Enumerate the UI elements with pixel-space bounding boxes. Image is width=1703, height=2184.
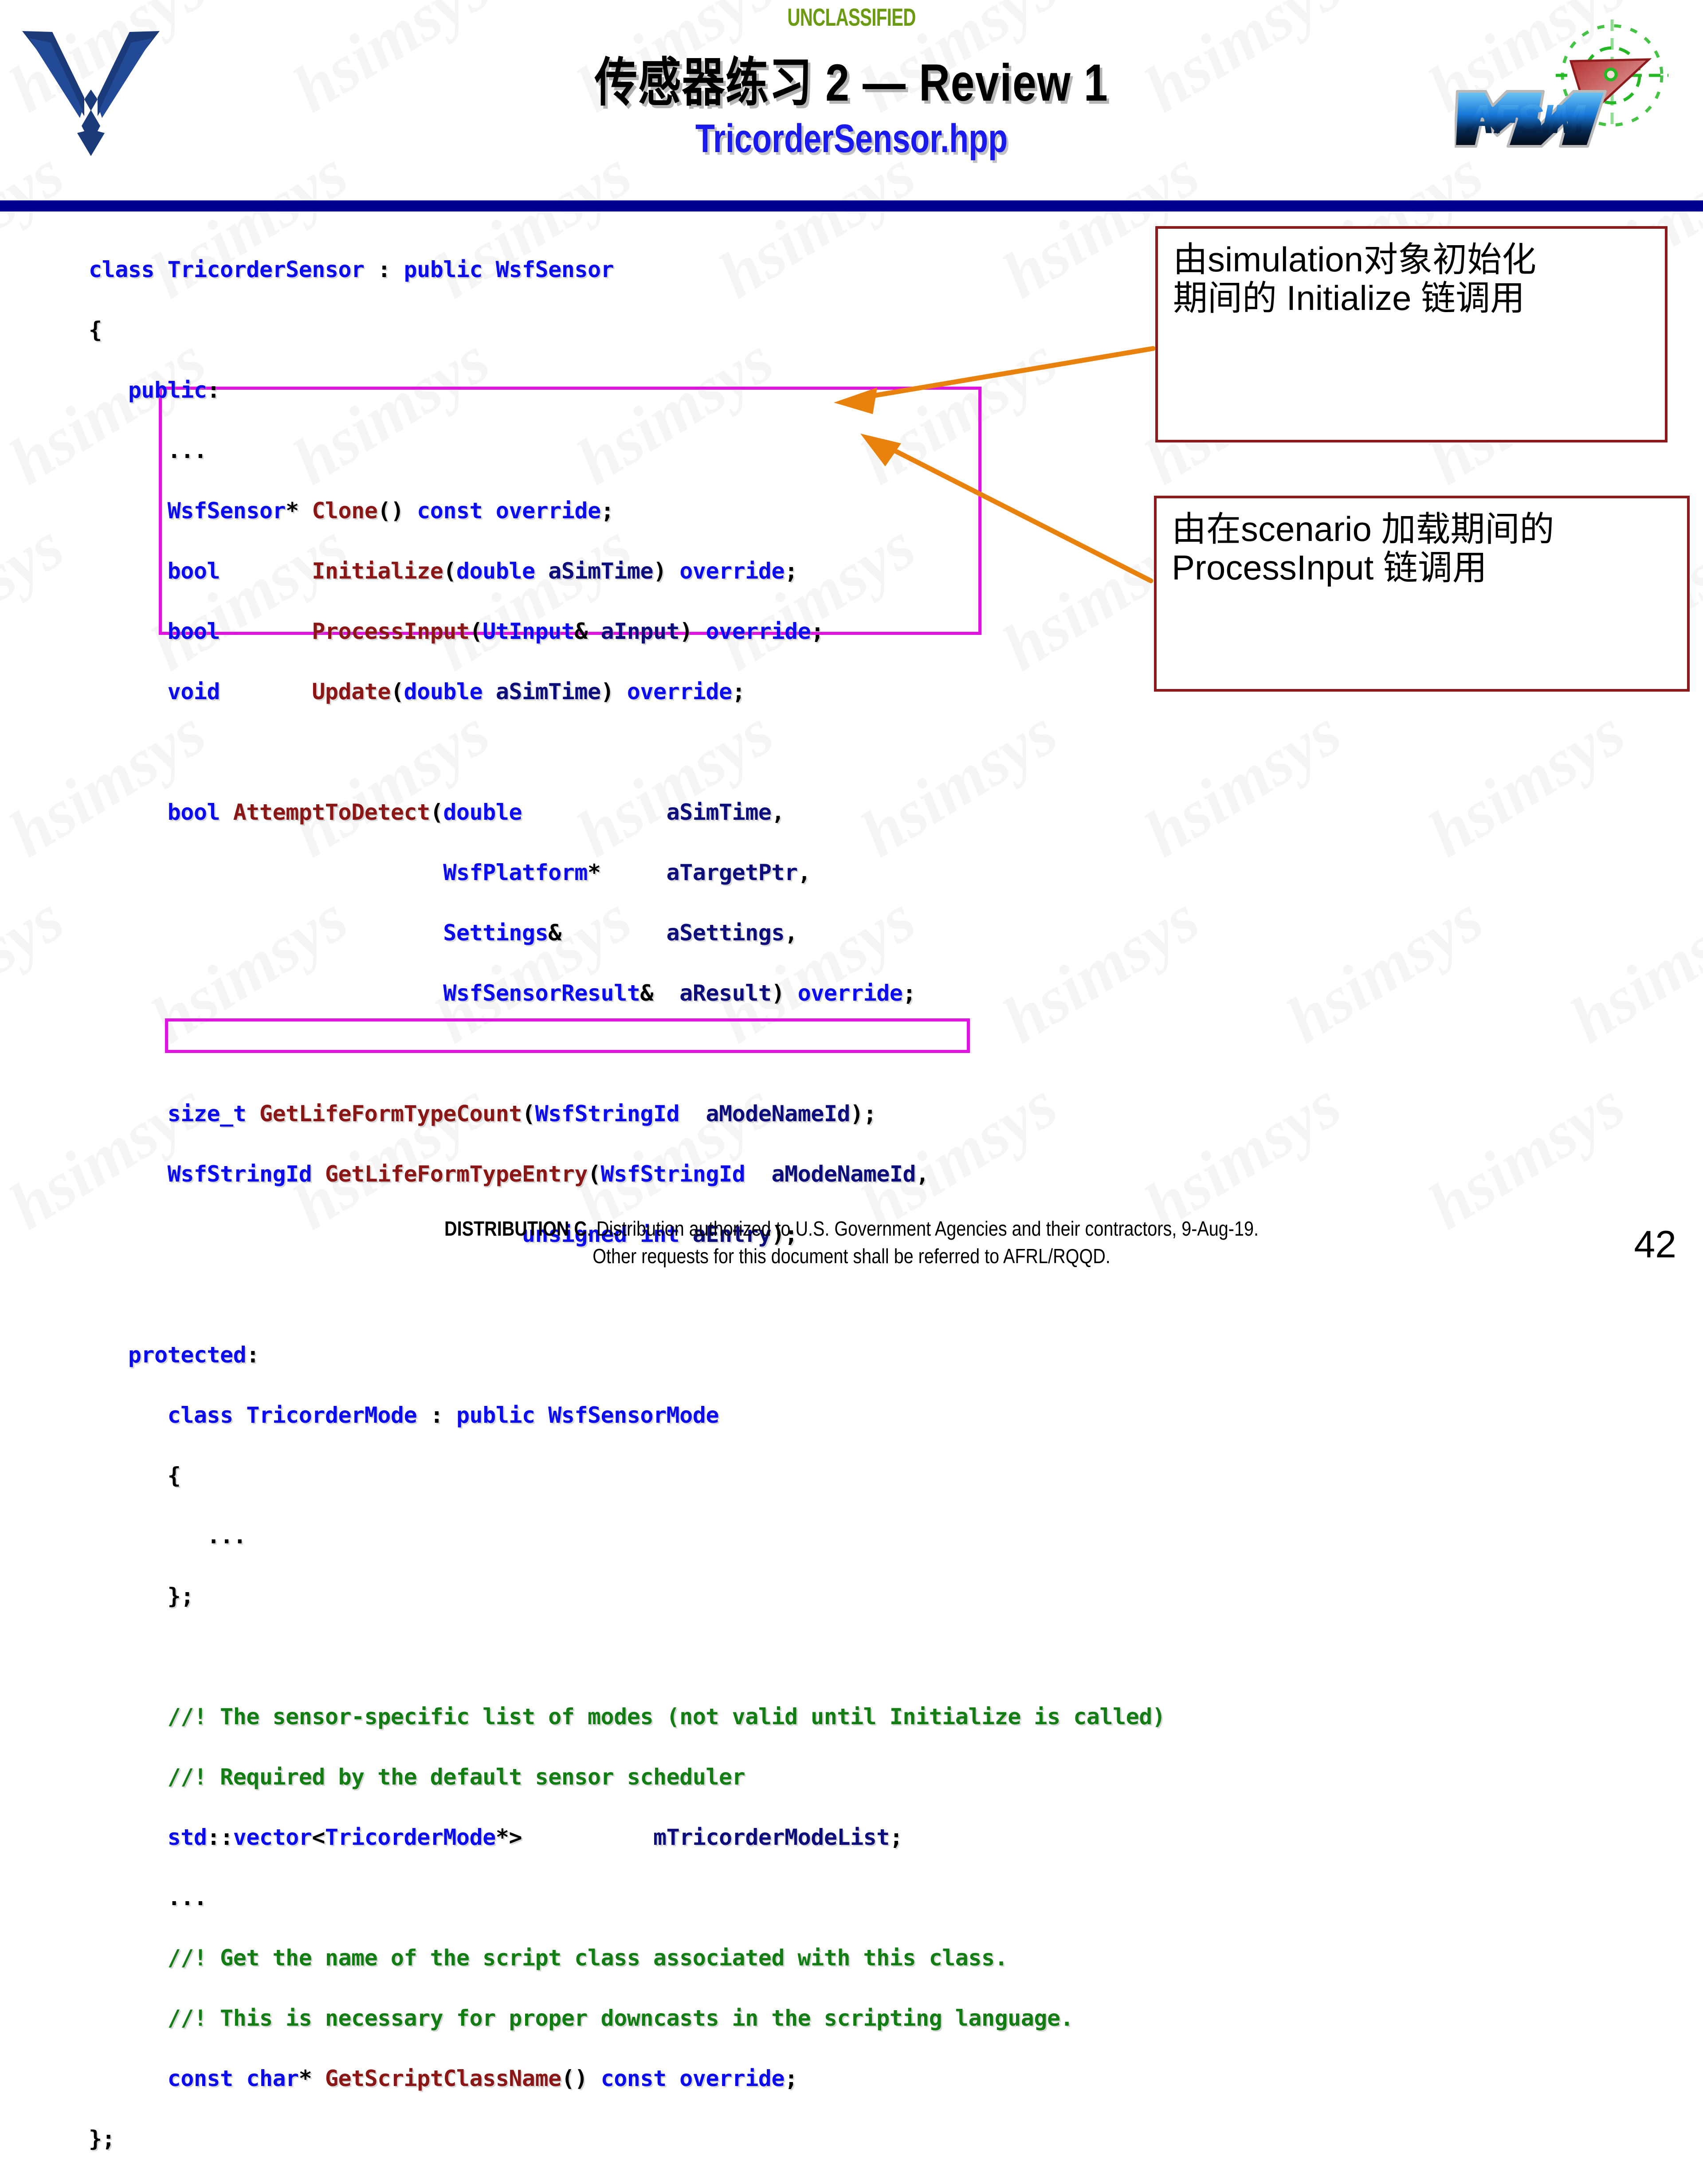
- code-line: void Update(double aSimTime) override;: [89, 677, 1165, 707]
- code-line: {: [89, 315, 1165, 345]
- distribution-line-1: DISTRIBUTION C. Distribution authorized …: [119, 1215, 1584, 1242]
- distribution-label: DISTRIBUTION C: [444, 1217, 587, 1240]
- code-line: bool Initialize(double aSimTime) overrid…: [89, 556, 1165, 586]
- page-subtitle: TricorderSensor.hpp: [170, 116, 1533, 162]
- distribution-line-1-rest: . Distribution authorized to U.S. Govern…: [587, 1217, 1259, 1240]
- page-number: 42: [1634, 1223, 1676, 1267]
- watermark-text: hsimsys: [1699, 694, 1703, 872]
- us-air-force-logo: [18, 23, 164, 156]
- distribution-statement: DISTRIBUTION C. Distribution authorized …: [119, 1215, 1584, 1270]
- code-line: ...: [89, 435, 1165, 466]
- code-line: protected:: [89, 1340, 1165, 1370]
- code-line: //! This is necessary for proper downcas…: [89, 2003, 1165, 2033]
- code-line: ...: [89, 1521, 1165, 1551]
- code-line: {: [89, 1460, 1165, 1491]
- code-line: WsfStringId GetLifeFormTypeEntry(WsfStri…: [89, 1159, 1165, 1189]
- code-line: };: [89, 1581, 1165, 1611]
- code-line: //! Required by the default sensor sched…: [89, 1762, 1165, 1792]
- watermark-text: hsimsys: [0, 880, 76, 1058]
- callout-initialize: 由simulation对象初始化 期间的 Initialize 链调用: [1155, 226, 1668, 442]
- callout-processinput: 由在scenario 加载期间的 ProcessInput 链调用: [1154, 496, 1690, 692]
- code-line: [89, 1280, 1165, 1310]
- watermark-text: hsimsys: [1699, 1066, 1703, 1245]
- callout-initialize-line1: 由simulation对象初始化: [1173, 240, 1650, 279]
- watermark-text: hsimsys: [1699, 321, 1703, 500]
- code-line: };: [89, 2124, 1165, 2154]
- afsim-logo: AFSIM: [1455, 17, 1694, 168]
- code-line: std::vector<TricorderMode*> mTricorderMo…: [89, 1822, 1165, 1852]
- code-line: const char* GetScriptClassName() const o…: [89, 2063, 1165, 2094]
- code-line: ...: [89, 1883, 1165, 1913]
- code-line: //! The sensor-specific list of modes (n…: [89, 1702, 1165, 1732]
- code-line: bool AttemptToDetect(double aSimTime,: [89, 797, 1165, 827]
- code-line: [89, 1038, 1165, 1069]
- header-divider-rule: [0, 200, 1703, 211]
- code-line: [89, 737, 1165, 767]
- code-line: WsfSensor* Clone() const override;: [89, 496, 1165, 526]
- code-line: size_t GetLifeFormTypeCount(WsfStringId …: [89, 1099, 1165, 1129]
- svg-text:AFSIM: AFSIM: [1464, 97, 1586, 142]
- code-line: [89, 1641, 1165, 1671]
- watermark-text: hsimsys: [0, 508, 76, 686]
- distribution-line-2: Other requests for this document shall b…: [119, 1242, 1584, 1270]
- code-line: //! Get the name of the script class ass…: [89, 1943, 1165, 1973]
- code-line: WsfSensorResult& aResult) override;: [89, 978, 1165, 1008]
- code-line: WsfPlatform* aTargetPtr,: [89, 857, 1165, 888]
- watermark-text: hsimsys: [1557, 880, 1703, 1058]
- code-line: class TricorderSensor : public WsfSensor: [89, 254, 1165, 285]
- code-line: bool ProcessInput(UtInput& aInput) overr…: [89, 616, 1165, 646]
- callout-initialize-line2: 期间的 Initialize 链调用: [1173, 279, 1650, 317]
- code-line: Settings& aSettings,: [89, 918, 1165, 948]
- code-line: class TricorderMode : public WsfSensorMo…: [89, 1400, 1165, 1430]
- slide-header: UNCLASSIFIED 传感器练习 2 — Review 1 Tricorde…: [0, 0, 1703, 202]
- watermark-text: hsimsys: [0, 1252, 76, 1277]
- page-title: 传感器练习 2 — Review 1: [153, 40, 1550, 116]
- watermark-text: hsimsys: [1415, 694, 1637, 872]
- watermark-text: hsimsys: [1273, 880, 1495, 1058]
- classification-banner: UNCLASSIFIED: [239, 3, 1465, 31]
- callout-processinput-line1: 由在scenario 加载期间的: [1172, 510, 1672, 548]
- code-listing: class TricorderSensor : public WsfSensor…: [89, 224, 1165, 2184]
- code-line: public:: [89, 375, 1165, 405]
- callout-processinput-line2: ProcessInput 链调用: [1172, 548, 1672, 587]
